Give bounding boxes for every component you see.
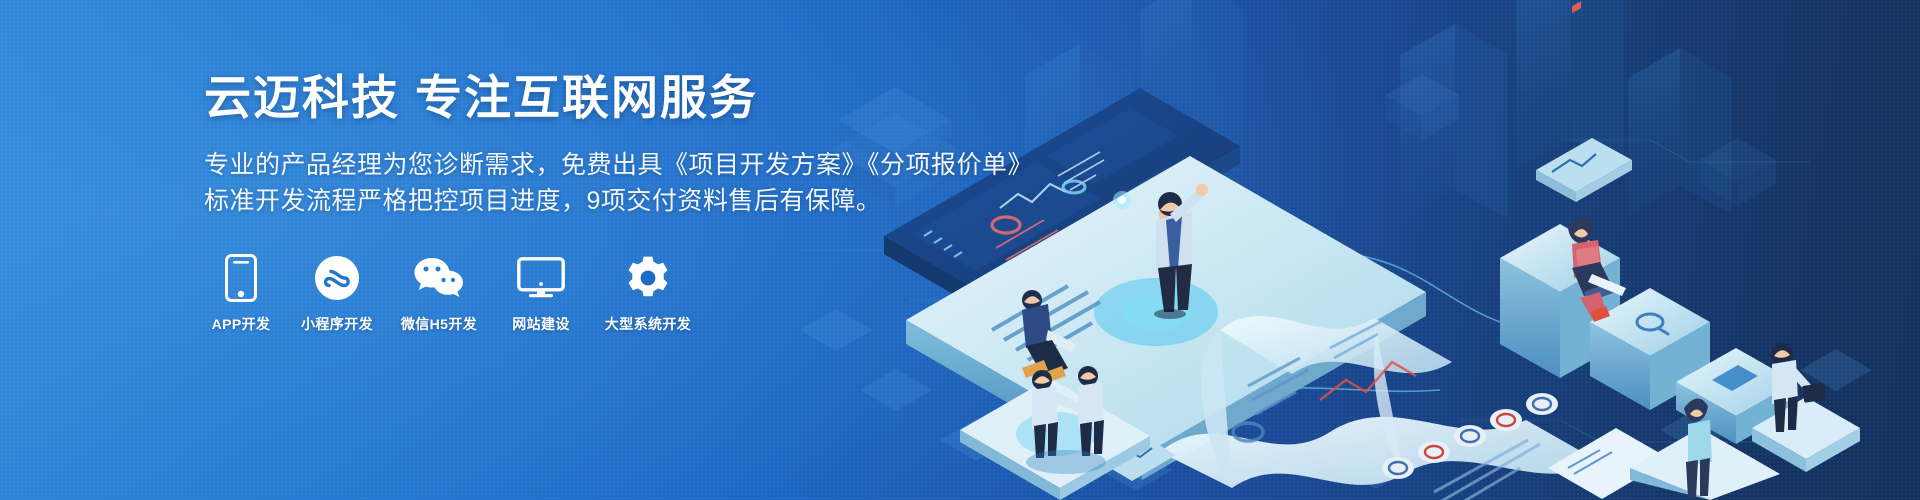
- mini-program-icon: [314, 253, 360, 303]
- wechat-icon: [413, 253, 465, 303]
- service-item-website[interactable]: 网站建设: [504, 253, 578, 334]
- subtitle-line-1: 专业的产品经理为您诊断需求，免费出具《项目开发方案》《分项报价单》: [204, 147, 1104, 183]
- hero-copy: 云迈科技 专注互联网服务 专业的产品经理为您诊断需求，免费出具《项目开发方案》《…: [204, 60, 1104, 334]
- service-item-app[interactable]: APP开发: [204, 253, 278, 334]
- hero-banner: 云迈科技 专注互联网服务 专业的产品经理为您诊断需求，免费出具《项目开发方案》《…: [0, 0, 1920, 500]
- service-item-miniprogram[interactable]: 小程序开发: [300, 253, 374, 334]
- touch-sparkle: [1113, 191, 1131, 209]
- page-title: 云迈科技 专注互联网服务: [204, 60, 1104, 121]
- service-item-system[interactable]: 大型系统开发: [600, 253, 696, 334]
- service-item-wechat[interactable]: 微信H5开发: [396, 253, 482, 334]
- monitor-icon: [517, 253, 565, 303]
- service-label-miniprogram: 小程序开发: [301, 314, 373, 334]
- subtitle-line-2: 标准开发流程严格把控项目进度，9项交付资料售后有保障。: [204, 183, 1104, 219]
- subtitle-block: 专业的产品经理为您诊断需求，免费出具《项目开发方案》《分项报价单》 标准开发流程…: [204, 147, 1104, 219]
- service-label-system: 大型系统开发: [605, 314, 691, 334]
- service-label-app: APP开发: [212, 314, 271, 334]
- gear-icon: [625, 253, 671, 303]
- mobile-phone-icon: [225, 253, 257, 303]
- service-label-wechat: 微信H5开发: [401, 314, 477, 334]
- service-icon-row: APP开发 小程序开发: [204, 253, 1104, 334]
- service-label-website: 网站建设: [512, 314, 570, 334]
